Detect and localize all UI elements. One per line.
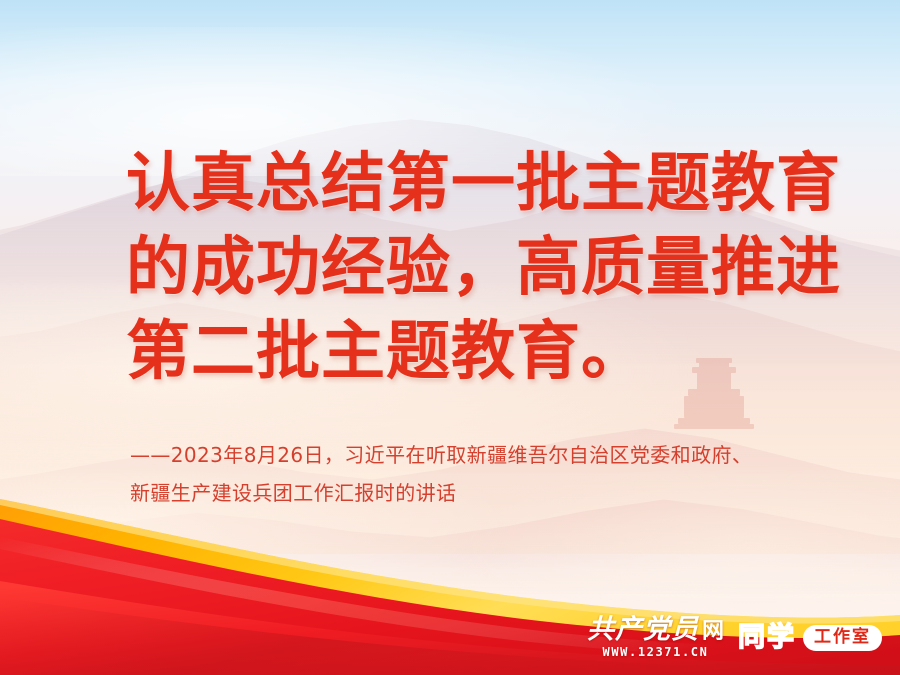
logo-studio-badge: 工作室 xyxy=(803,625,882,651)
logo-studio[interactable]: 同学 工作室 xyxy=(738,624,882,651)
logo-site-suffix: 网 xyxy=(702,621,724,643)
logo-site-calligraphy: 共产党员 xyxy=(587,616,699,643)
headline-line-1: 认真总结第一批主题教育 xyxy=(126,142,826,226)
poster-canvas: 认真总结第一批主题教育 的成功经验，高质量推进 第二批主题教育。 ——2023年… xyxy=(0,0,900,675)
logo-cluster: 共产党员 网 WWW.12371.CN 同学 工作室 xyxy=(587,616,882,659)
headline-block: 认真总结第一批主题教育 的成功经验，高质量推进 第二批主题教育。 xyxy=(126,142,826,394)
logo-studio-name: 同学 xyxy=(738,624,796,651)
logo-12371-wordmark-row: 共产党员 网 xyxy=(587,616,724,643)
headline-line-2: 的成功经验，高质量推进 xyxy=(126,226,826,310)
logo-12371cn[interactable]: 共产党员 网 WWW.12371.CN xyxy=(587,616,724,659)
logo-site-url: WWW.12371.CN xyxy=(603,645,709,659)
headline-line-3: 第二批主题教育。 xyxy=(126,310,826,394)
subtitle-line-1: ——2023年8月26日，习近平在听取新疆维吾尔自治区党委和政府、 xyxy=(130,436,836,474)
